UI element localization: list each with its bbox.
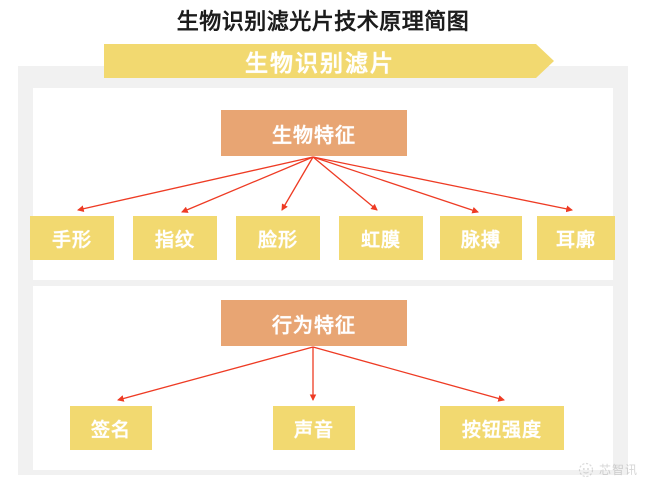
node-biometric-leaf-hand-shape[interactable]: 手形 — [30, 216, 114, 260]
node-behavior-root[interactable]: 行为特征 — [221, 300, 407, 346]
node-behavior-leaf-signature[interactable]: 签名 — [70, 406, 152, 450]
watermark-label: 芯智讯 — [599, 461, 638, 478]
node-behavior-leaf-button-pressure[interactable]: 按钮强度 — [440, 406, 564, 450]
node-biometric-leaf-iris[interactable]: 虹膜 — [339, 216, 423, 260]
watermark: 芯智讯 — [578, 461, 638, 478]
page-title: 生物识别滤光片技术原理简图 — [0, 8, 646, 36]
node-behavior-leaf-voice[interactable]: 声音 — [273, 406, 355, 450]
node-biometric-leaf-auricle[interactable]: 耳廓 — [537, 216, 615, 260]
node-biometric-leaf-fingerprint[interactable]: 指纹 — [133, 216, 217, 260]
banner-ribbon: 生物识别滤片 — [104, 44, 554, 78]
node-biometric-leaf-face-shape[interactable]: 脸形 — [236, 216, 320, 260]
node-biometric-leaf-pulse[interactable]: 脉搏 — [440, 216, 522, 260]
node-biometric-root[interactable]: 生物特征 — [221, 110, 407, 156]
banner-label: 生物识别滤片 — [245, 44, 413, 78]
circle-logo-icon — [578, 462, 594, 478]
